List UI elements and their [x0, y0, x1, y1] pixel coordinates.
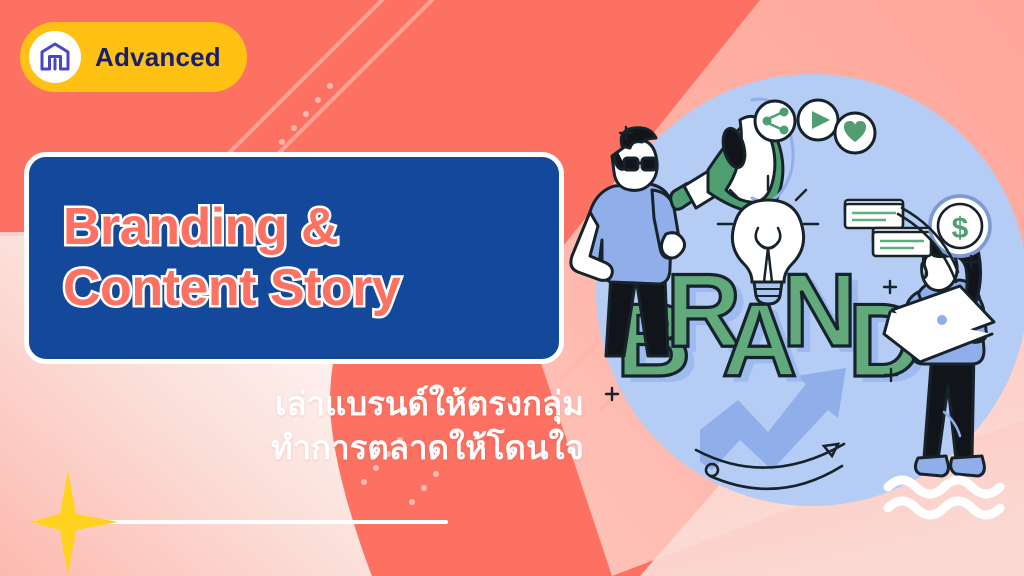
- banner-root: B R A N D B R A N D: [0, 0, 1024, 576]
- chat-bubble-icon-1: [845, 200, 903, 228]
- four-point-star-icon: [30, 470, 118, 576]
- subtitle-line-2: ทำการตลาดให้โดนใจ: [224, 426, 584, 470]
- title-line-2: Content Story: [63, 258, 559, 319]
- heart-icon: [835, 113, 875, 153]
- wave-lines-decoration: [888, 480, 1000, 515]
- brand-letter-n: N: [782, 253, 857, 369]
- share-icon: [755, 101, 795, 141]
- dollar-symbol: $: [952, 212, 969, 245]
- house-logo-icon: [38, 40, 72, 74]
- play-icon: [798, 100, 838, 140]
- logo-circle: [29, 31, 81, 83]
- advanced-badge[interactable]: Advanced: [20, 22, 247, 92]
- subtitle-line-1: เล่าแบรนด์ให้ตรงกลุ่ม: [224, 382, 584, 426]
- title-box: Branding & Content Story: [24, 152, 564, 364]
- subtitle-block: เล่าแบรนด์ให้ตรงกลุ่ม ทำการตลาดให้โดนใจ: [224, 382, 584, 469]
- title-line-1: Branding &: [63, 197, 559, 258]
- advanced-badge-label: Advanced: [95, 44, 221, 70]
